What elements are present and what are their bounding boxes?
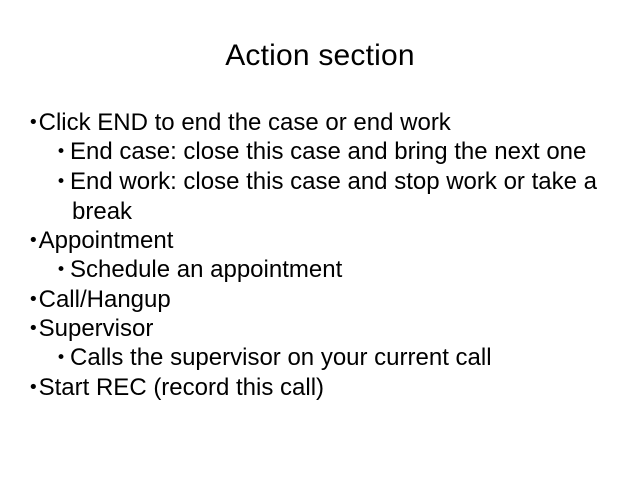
slide-title: Action section <box>0 38 640 74</box>
bullet-glyph-icon: • <box>28 289 39 310</box>
bullet-item-level2: •End work: close this case and stop work… <box>56 167 614 226</box>
bullet-glyph-icon: • <box>56 348 66 368</box>
bullet-item-label: Supervisor <box>39 315 154 342</box>
bullet-glyph-icon: • <box>28 377 39 398</box>
slide-canvas: Action section •Click END to end the cas… <box>0 0 640 480</box>
bullet-glyph-icon: • <box>28 318 39 339</box>
bullet-item-level2: •Schedule an appointment <box>56 255 614 285</box>
bullet-item-level1: •Appointment <box>28 226 614 255</box>
bullet-item-label: Click END to end the case or end work <box>39 109 451 136</box>
bullet-item-label: End work: close this case and stop work … <box>70 168 597 225</box>
bullet-glyph-icon: • <box>28 230 39 251</box>
bullet-glyph-icon: • <box>56 260 66 280</box>
bullet-glyph-icon: • <box>28 112 39 133</box>
slide-body-content: •Click END to end the case or end work •… <box>28 108 614 402</box>
bullet-item-level1: •Supervisor <box>28 314 614 343</box>
bullet-item-label: Call/Hangup <box>39 286 171 313</box>
bullet-item-level1: •Call/Hangup <box>28 285 614 314</box>
bullet-glyph-icon: • <box>56 172 66 192</box>
bullet-item-label: Calls the supervisor on your current cal… <box>70 344 492 371</box>
bullet-item-level1: •Start REC (record this call) <box>28 373 614 402</box>
bullet-item-level1: •Click END to end the case or end work <box>28 108 614 137</box>
bullet-item-label: Appointment <box>39 227 174 254</box>
bullet-item-level2: •End case: close this case and bring the… <box>56 137 614 167</box>
bullet-glyph-icon: • <box>56 142 66 162</box>
bullet-item-label: End case: close this case and bring the … <box>70 138 586 165</box>
bullet-item-level2: •Calls the supervisor on your current ca… <box>56 343 614 373</box>
bullet-item-label: Start REC (record this call) <box>39 374 324 401</box>
bullet-item-label: Schedule an appointment <box>70 256 342 283</box>
